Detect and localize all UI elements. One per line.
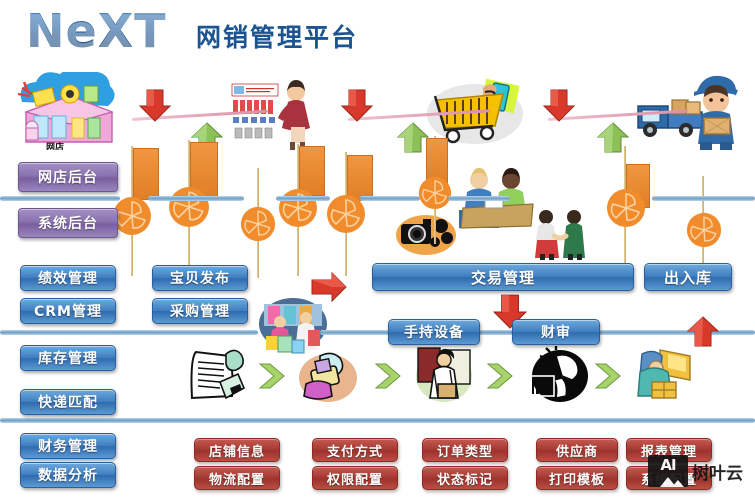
button-label: 支付方式: [327, 441, 383, 460]
order-document-icon: [186, 348, 248, 404]
pinwheel-icon: [418, 176, 452, 210]
button-label: 宝贝发布: [170, 268, 230, 288]
online-shop-icon: 网店: [8, 72, 128, 150]
divider-top-mid-2: [276, 196, 330, 201]
pinwheel-icon: [112, 196, 152, 236]
button-label: 物流配置: [209, 469, 265, 488]
bottom-button-supplier[interactable]: 供应商: [536, 438, 618, 462]
sidebar-item-label: 绩效管理: [38, 268, 98, 288]
bottom-button-payment-method[interactable]: 支付方式: [312, 438, 398, 462]
sidebar-item-label: 数据分析: [38, 465, 98, 485]
pinwheel-icon: [606, 188, 646, 228]
watermark: AI 树叶云: [648, 455, 743, 487]
button-label: 供应商: [556, 441, 598, 460]
button-financial-audit[interactable]: 财审: [512, 319, 600, 345]
button-label: 交易管理: [471, 267, 535, 288]
shop-caption: 网店: [46, 141, 64, 150]
packing-printer-icon: [298, 348, 360, 404]
sidebar-item-label: 网店后台: [38, 167, 98, 187]
sidebar-item-crm[interactable]: CRM管理: [20, 298, 116, 324]
divider-top-right: [652, 196, 755, 201]
red-up-arrow: [686, 316, 720, 348]
divider-top-mid-1: [148, 196, 244, 201]
button-handheld-device[interactable]: 手持设备: [388, 319, 480, 345]
green-chevron-icon: [258, 362, 292, 390]
watermark-text: 树叶云: [692, 459, 743, 484]
button-label: 打印模板: [549, 469, 605, 488]
marker-flag: [133, 148, 159, 200]
button-label: 店铺信息: [209, 441, 265, 460]
green-up-arrow-2: [396, 122, 430, 154]
package-wrap-icon: [634, 346, 696, 402]
button-purchase-mgmt[interactable]: 采购管理: [152, 298, 248, 324]
bottom-button-print-template[interactable]: 打印模板: [536, 466, 618, 490]
sidebar-item-label: 财务管理: [38, 436, 98, 456]
pinwheel-icon: [240, 206, 276, 242]
red-down-arrow-2: [340, 88, 374, 122]
page-subtitle: 网销管理平台: [196, 18, 358, 54]
page-title: NeXT: [26, 4, 167, 58]
bottom-button-order-type[interactable]: 订单类型: [422, 438, 508, 462]
button-label: 权限配置: [327, 469, 383, 488]
pinwheel-icon: [278, 188, 318, 228]
sidebar-item-finance[interactable]: 财务管理: [20, 433, 116, 459]
divider-top-mid-3: [360, 196, 420, 201]
button-label: 订单类型: [437, 441, 493, 460]
camera-gear-icon: [395, 210, 457, 256]
sidebar-item-label: 库存管理: [38, 348, 98, 368]
green-chevron-icon: [594, 362, 628, 390]
button-label: 采购管理: [170, 301, 230, 321]
sidebar-item-shop-backend[interactable]: 网店后台: [18, 162, 118, 192]
divider-bottom: [0, 418, 755, 423]
red-right-arrow: [310, 270, 348, 304]
sidebar-item-label: CRM管理: [34, 301, 102, 321]
sidebar-item-express-match[interactable]: 快递匹配: [20, 389, 116, 415]
shopping-bags-icon: [258, 296, 328, 354]
button-warehouse-inout[interactable]: 出入库: [644, 263, 732, 291]
button-trade-management[interactable]: 交易管理: [372, 263, 634, 291]
button-label: 出入库: [664, 267, 712, 288]
barcode-scanner-icon: [526, 346, 590, 404]
red-down-arrow-3: [542, 88, 576, 122]
sidebar-item-performance[interactable]: 绩效管理: [20, 265, 116, 291]
green-chevron-icon: [374, 362, 408, 390]
handshake-people-icon: [530, 208, 590, 260]
watermark-badge-icon: AI: [648, 455, 688, 487]
sidebar-item-label: 快递匹配: [38, 392, 98, 412]
bottom-button-status-mark[interactable]: 状态标记: [422, 466, 508, 490]
sidebar-item-system-backend[interactable]: 系统后台: [18, 208, 118, 238]
bottom-button-shop-info[interactable]: 店铺信息: [194, 438, 280, 462]
sidebar-item-label: 系统后台: [38, 213, 98, 233]
bottom-button-permission-cfg[interactable]: 权限配置: [312, 466, 398, 490]
watermark-badge-text: AI: [660, 457, 675, 473]
button-product-publish[interactable]: 宝贝发布: [152, 265, 248, 291]
presenter-chart-icon: [230, 80, 325, 150]
button-label: 手持设备: [404, 322, 464, 342]
pinwheel-icon: [686, 212, 722, 248]
poster-canvas: NeXT 网销管理平台 网店: [0, 0, 755, 500]
sidebar-item-inventory[interactable]: 库存管理: [20, 345, 116, 371]
button-label: 状态标记: [437, 469, 493, 488]
pinwheel-icon: [168, 186, 210, 228]
button-label: 财审: [541, 322, 571, 342]
divider-mid-left: [0, 330, 258, 335]
bottom-button-logistics-cfg[interactable]: 物流配置: [194, 466, 280, 490]
picker-person-icon: [414, 344, 474, 404]
divider-top-mid-4: [448, 196, 510, 201]
sidebar-item-data-analysis[interactable]: 数据分析: [20, 462, 116, 488]
green-chevron-icon: [486, 362, 520, 390]
divider-top-left: [0, 196, 120, 201]
red-down-arrow-1: [138, 88, 172, 122]
